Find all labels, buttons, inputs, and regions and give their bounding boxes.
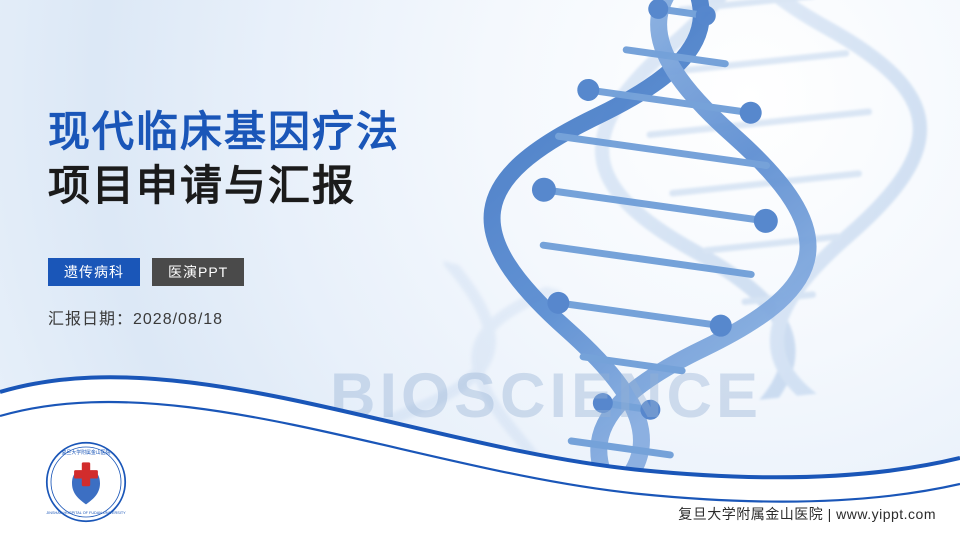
title-block: 现代临床基因疗法 项目申请与汇报 xyxy=(48,105,400,213)
page-title-line2: 项目申请与汇报 xyxy=(48,159,400,213)
tag-template: 医演PPT xyxy=(152,258,244,286)
footer-text: 复旦大学附属金山医院 | www.yippt.com xyxy=(678,504,936,524)
svg-text:JINSHAN HOSPITAL OF FUDAN UNIV: JINSHAN HOSPITAL OF FUDAN UNIVERSITY xyxy=(46,511,126,515)
slide-root: BIOSCIENCE 现代临床基因疗法 项目申请与汇报 遗传病科 医演PPT 汇… xyxy=(0,0,960,540)
report-date: 汇报日期：2028/08/18 xyxy=(48,305,223,329)
tag-row: 遗传病科 医演PPT xyxy=(48,258,244,286)
svg-text:复旦大学附属金山医院: 复旦大学附属金山医院 xyxy=(62,449,111,456)
page-title-line1: 现代临床基因疗法 xyxy=(48,105,400,159)
tag-department: 遗传病科 xyxy=(48,258,140,286)
hospital-logo-icon: 复旦大学附属金山医院 JINSHAN HOSPITAL OF FUDAN UNI… xyxy=(44,440,128,524)
